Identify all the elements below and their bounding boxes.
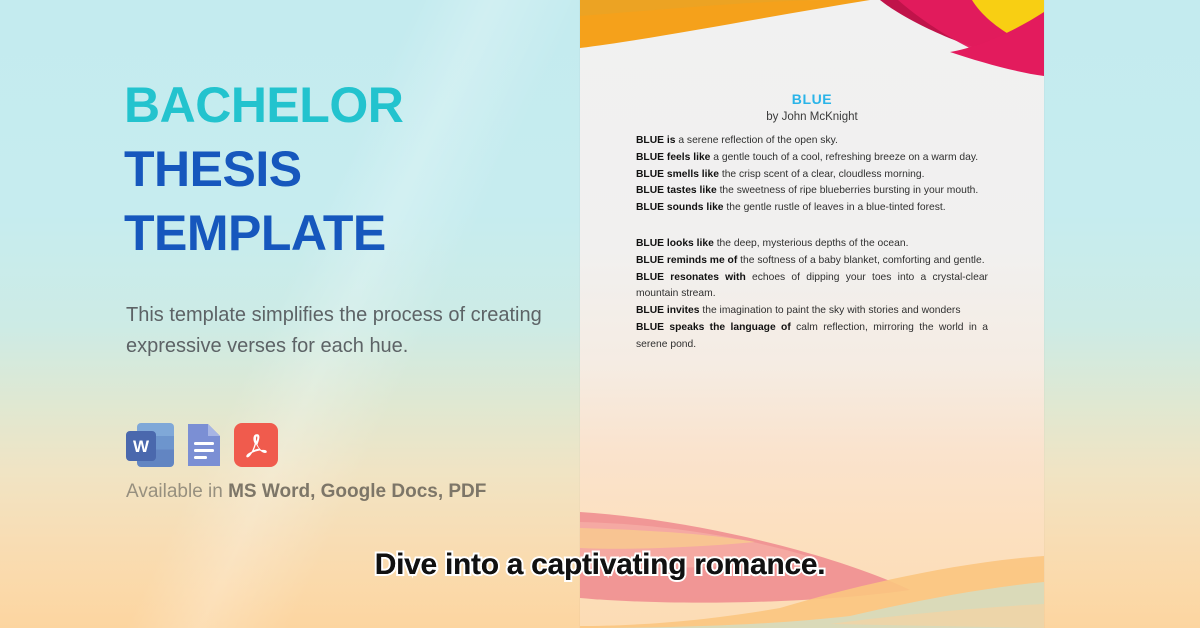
poem-line: BLUE resonates with echoes of dipping yo… [636, 270, 988, 304]
poem-line-lead: BLUE is [636, 135, 675, 146]
google-docs-icon[interactable] [182, 421, 226, 469]
poem-title: BLUE [580, 91, 1044, 107]
availability-formats: MS Word, Google Docs, PDF [228, 481, 486, 502]
poem-line-rest: the sweetness of ripe blueberries bursti… [717, 185, 979, 196]
poem-line-lead: BLUE looks like [636, 238, 714, 249]
page-title: BACHELOR THESIS TEMPLATE [124, 80, 564, 272]
poem-line-rest: the softness of a baby blanket, comforti… [737, 255, 984, 266]
poem-line-rest: the gentle rustle of leaves in a blue-ti… [724, 202, 946, 213]
pdf-badge [234, 423, 278, 467]
ms-word-icon[interactable]: W [126, 421, 174, 469]
poem-line: BLUE looks like the deep, mysterious dep… [636, 236, 988, 253]
poem-line: BLUE tastes like the sweetness of ripe b… [636, 183, 988, 200]
caption-text: Dive into a captivating romance. [0, 548, 1200, 582]
poem-line-lead: BLUE reminds me of [636, 255, 737, 266]
headline-line-1: BACHELOR [124, 80, 564, 130]
poem-line-rest: a serene reflection of the open sky. [675, 135, 837, 146]
poem-line-rest: a gentle touch of a cool, refreshing bre… [710, 152, 978, 163]
poem-line: BLUE feels like a gentle touch of a cool… [636, 150, 988, 167]
poem-line: BLUE invites the imagination to paint th… [636, 303, 988, 320]
format-icons: W [126, 421, 278, 469]
poem-line: BLUE sounds like the gentle rustle of le… [636, 200, 988, 217]
poem-line-lead: BLUE tastes like [636, 185, 717, 196]
availability-lead: Available in [126, 481, 228, 502]
poem-line-lead: BLUE feels like [636, 152, 710, 163]
pdf-icon[interactable] [234, 421, 278, 469]
availability-text: Available in MS Word, Google Docs, PDF [126, 481, 486, 503]
promo-panel: BACHELOR THESIS TEMPLATE This template s… [0, 0, 580, 628]
word-letter: W [126, 431, 156, 461]
poem-line-rest: the deep, mysterious depths of the ocean… [714, 238, 909, 249]
poem-line-lead: BLUE speaks the language of [636, 322, 791, 333]
poem-line-lead: BLUE resonates with [636, 272, 746, 283]
headline-line-2: THESIS [124, 144, 564, 194]
document-text-area: BLUE by John McKnight BLUE is a serene r… [580, 0, 1044, 628]
poem-stanza-2: BLUE looks like the deep, mysterious dep… [636, 236, 988, 354]
poem-author: by John McKnight [580, 111, 1044, 123]
poem-line: BLUE reminds me of the softness of a bab… [636, 253, 988, 270]
headline-line-3: TEMPLATE [124, 208, 564, 258]
poem-line-lead: BLUE invites [636, 305, 700, 316]
google-docs-glyph [182, 421, 226, 469]
poem-line-lead: BLUE sounds like [636, 202, 724, 213]
acrobat-glyph [241, 430, 271, 460]
poem-line-lead: BLUE smells like [636, 169, 719, 180]
poem-stanza-1: BLUE is a serene reflection of the open … [636, 133, 988, 217]
poem-line: BLUE smells like the crisp scent of a cl… [636, 167, 988, 184]
document-preview[interactable]: BLUE by John McKnight BLUE is a serene r… [580, 0, 1044, 628]
poem-line: BLUE is a serene reflection of the open … [636, 133, 988, 150]
subtitle-text: This template simplifies the process of … [126, 300, 546, 362]
poem-line-rest: the crisp scent of a clear, cloudless mo… [719, 169, 924, 180]
poem-line-rest: the imagination to paint the sky with st… [700, 305, 961, 316]
poem-line: BLUE speaks the language of calm reflect… [636, 320, 988, 354]
